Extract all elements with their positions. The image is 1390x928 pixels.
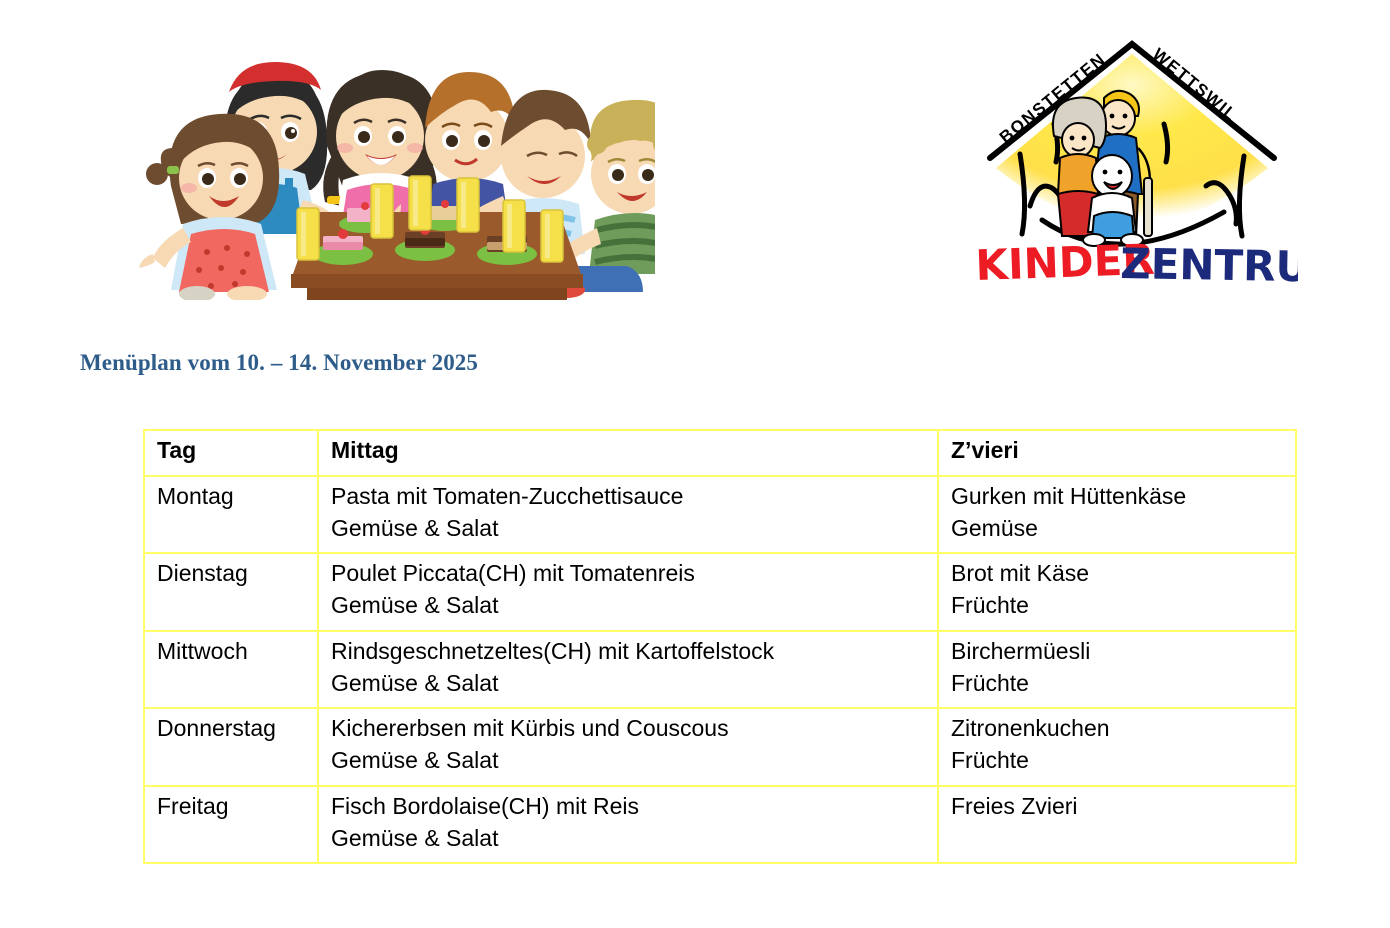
cell-day: Dienstag [144,553,318,630]
cell-day: Mittwoch [144,631,318,708]
cell-day: Donnerstag [144,708,318,785]
cell-day: Freitag [144,786,318,863]
lunch-line-1: Kichererbsen mit Kürbis und Couscous [331,715,729,741]
wordmark-zentrum: ZENTRUM [1120,239,1298,292]
logo-wordmark: KINDER ZENTRUM [975,235,1298,292]
snack-line-1: Freies Zvieri [951,793,1078,819]
lunch-line-2: Gemüse & Salat [331,513,925,545]
snack-line-2: Früchte [951,590,1283,622]
table-row: Freitag Fisch Bordolaise(CH) mit Reis Ge… [144,786,1296,863]
lunch-line-2: Gemüse & Salat [331,823,925,855]
cell-lunch: Pasta mit Tomaten-Zucchettisauce Gemüse … [318,476,938,553]
kinderzentrum-logo: BONSTETTEN WETTSWIL [968,28,1298,300]
menu-plan-table: Tag Mittag Z’vieri Montag Pasta mit Toma… [143,429,1297,864]
table-row: Dienstag Poulet Piccata(CH) mit Tomatenr… [144,553,1296,630]
snack-line-2: Früchte [951,745,1283,777]
column-header-day: Tag [144,430,318,476]
snack-line-2: Gemüse [951,513,1283,545]
table-row: Montag Pasta mit Tomaten-Zucchettisauce … [144,476,1296,553]
lunch-line-1: Rindsgeschnetzeltes(CH) mit Kartoffelsto… [331,638,774,664]
table-row: Mittwoch Rindsgeschnetzeltes(CH) mit Kar… [144,631,1296,708]
cell-snack: Zitronenkuchen Früchte [938,708,1296,785]
lunch-line-2: Gemüse & Salat [331,668,925,700]
cell-snack: Freies Zvieri [938,786,1296,863]
snack-line-1: Zitronenkuchen [951,715,1110,741]
cell-lunch: Kichererbsen mit Kürbis und Couscous Gem… [318,708,938,785]
lunch-line-1: Fisch Bordolaise(CH) mit Reis [331,793,639,819]
cell-lunch: Rindsgeschnetzeltes(CH) mit Kartoffelsto… [318,631,938,708]
snack-line-2: Früchte [951,668,1283,700]
table-row: Donnerstag Kichererbsen mit Kürbis und C… [144,708,1296,785]
logo-family-figures [1053,91,1152,246]
snack-line-1: Brot mit Käse [951,560,1089,586]
cell-snack: Birchermüesli Früchte [938,631,1296,708]
column-header-lunch: Mittag [318,430,938,476]
column-header-snack: Z’vieri [938,430,1296,476]
children-at-table-illustration [75,28,655,300]
child-red-dress-girl [139,114,279,300]
cell-snack: Brot mit Käse Früchte [938,553,1296,630]
lunch-line-2: Gemüse & Salat [331,745,925,777]
cell-lunch: Fisch Bordolaise(CH) mit Reis Gemüse & S… [318,786,938,863]
lunch-line-1: Poulet Piccata(CH) mit Tomatenreis [331,560,695,586]
cell-snack: Gurken mit Hüttenkäse Gemüse [938,476,1296,553]
header-band: BONSTETTEN WETTSWIL [0,0,1390,320]
cell-lunch: Poulet Piccata(CH) mit Tomatenreis Gemüs… [318,553,938,630]
snack-line-1: Gurken mit Hüttenkäse [951,483,1186,509]
snack-line-1: Birchermüesli [951,638,1090,664]
cell-day: Montag [144,476,318,553]
table-header-row: Tag Mittag Z’vieri [144,430,1296,476]
lunch-line-1: Pasta mit Tomaten-Zucchettisauce [331,483,683,509]
lunch-line-2: Gemüse & Salat [331,590,925,622]
page-title: Menüplan vom 10. – 14. November 2025 [80,350,478,376]
